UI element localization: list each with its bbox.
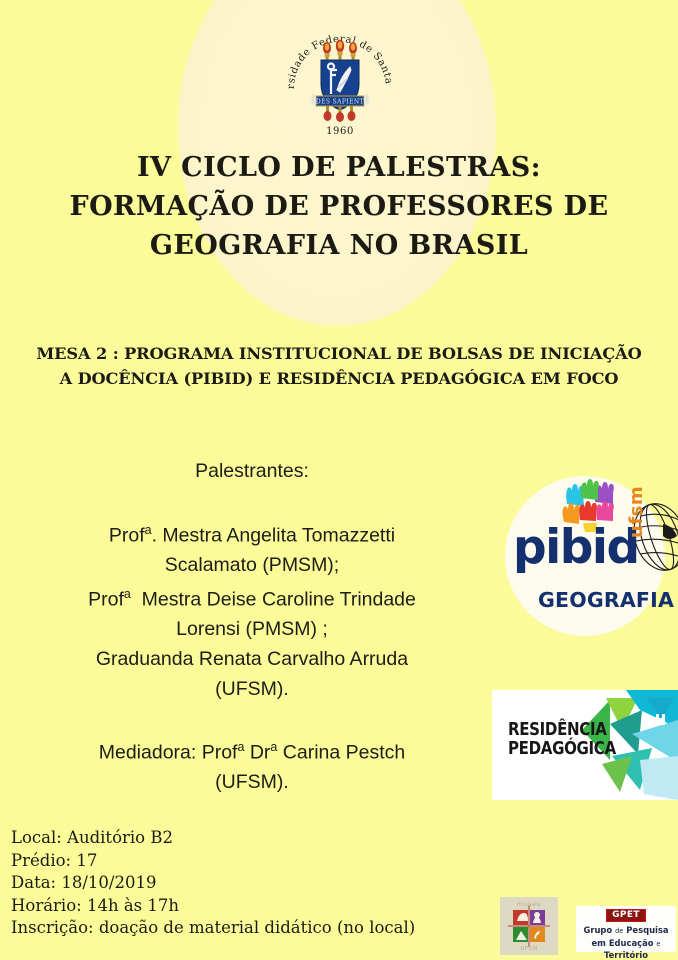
speakers-heading: Palestrantes: xyxy=(22,457,482,487)
speakers-spacer-2 xyxy=(22,704,482,733)
residencia-line-2: PEDAGÓGICA xyxy=(508,740,616,759)
gpet-subtitle: Grupo de Pesquisa em Educação e Territór… xyxy=(576,925,676,960)
museu-top-label: museu xyxy=(500,900,558,908)
speaker-line-2: Scalamato (PMSM); xyxy=(22,551,482,581)
gpet-subtitle-line-1: Grupo de Pesquisa xyxy=(576,925,676,938)
speakers-block: Palestrantes: Profa. Mestra Angelita Tom… xyxy=(22,457,482,798)
speakers-spacer-1 xyxy=(22,487,482,516)
svg-text:1960: 1960 xyxy=(326,126,354,137)
ufsm-coat-of-arms-icon: Universidade Federal de Santa Maria xyxy=(281,22,399,140)
gpet-badge-label: GPET xyxy=(607,910,645,920)
residencia-pedagogica-logo: RESIDÊNCIA PEDAGÓGICA xyxy=(492,690,678,800)
gpet-logo: GPET Grupo de Pesquisa em Educação e Ter… xyxy=(576,906,676,952)
subtitle-line-1: MESA 2 : PROGRAMA INSTITUCIONAL DE BOLSA… xyxy=(0,341,678,366)
mediator-line-2: (UFSM). xyxy=(22,768,482,798)
gpet-badge: GPET xyxy=(606,909,646,922)
museu-bottom-label: UFSM xyxy=(500,946,558,952)
detail-local: Local: Auditório B2 xyxy=(11,827,415,850)
event-details: Local: Auditório B2 Prédio: 17 Data: 18/… xyxy=(11,827,415,940)
speaker-line-5: Graduanda Renata Carvalho Arruda xyxy=(22,645,482,675)
event-poster: Universidade Federal de Santa Maria xyxy=(0,0,678,960)
speaker-line-4: Lorensi (PMSM) ; xyxy=(22,615,482,645)
gpet-subtitle-line-2: em Educação e Território xyxy=(576,938,676,960)
subtitle-line-2: A DOCÊNCIA (PIBID) E RESIDÊNCIA PEDAGÓGI… xyxy=(0,366,678,391)
pibid-institution-label: ufsm xyxy=(626,486,647,538)
detail-inscricao: Inscrição: doação de material didático (… xyxy=(11,917,415,940)
residencia-wordmark: RESIDÊNCIA PEDAGÓGICA xyxy=(508,721,616,759)
detail-horario: Horário: 14h às 17h xyxy=(11,895,415,918)
svg-text:FIDES SAPIENTIA: FIDES SAPIENTIA xyxy=(309,99,372,106)
speaker-line-1: Profa. Mestra Angelita Tomazzetti xyxy=(22,516,482,551)
poster-title: IV CICLO DE PALESTRAS: FORMAÇÃO DE PROFE… xyxy=(0,148,678,265)
title-line-1: IV CICLO DE PALESTRAS: xyxy=(0,148,678,187)
museu-logo: museu UFSM xyxy=(500,897,558,955)
poster-subtitle: MESA 2 : PROGRAMA INSTITUCIONAL DE BOLSA… xyxy=(0,341,678,391)
residencia-line-1: RESIDÊNCIA xyxy=(508,721,616,740)
title-line-3: GEOGRAFIA NO BRASIL xyxy=(0,226,678,265)
detail-data: Data: 18/10/2019 xyxy=(11,872,415,895)
detail-predio: Prédio: 17 xyxy=(11,850,415,873)
pibid-logo: pibid ufsm GEOGRAFIA xyxy=(505,476,677,648)
title-line-2: FORMAÇÃO DE PROFESSORES DE xyxy=(0,187,678,226)
pibid-wordmark: pibid xyxy=(513,524,639,571)
pibid-program-label: GEOGRAFIA xyxy=(538,588,674,612)
mediator-line-1: Mediadora: Profa Dra Carina Pestch xyxy=(22,733,482,768)
speaker-line-6: (UFSM). xyxy=(22,675,482,705)
speaker-line-3: Profa Mestra Deise Caroline Trindade xyxy=(22,580,482,615)
